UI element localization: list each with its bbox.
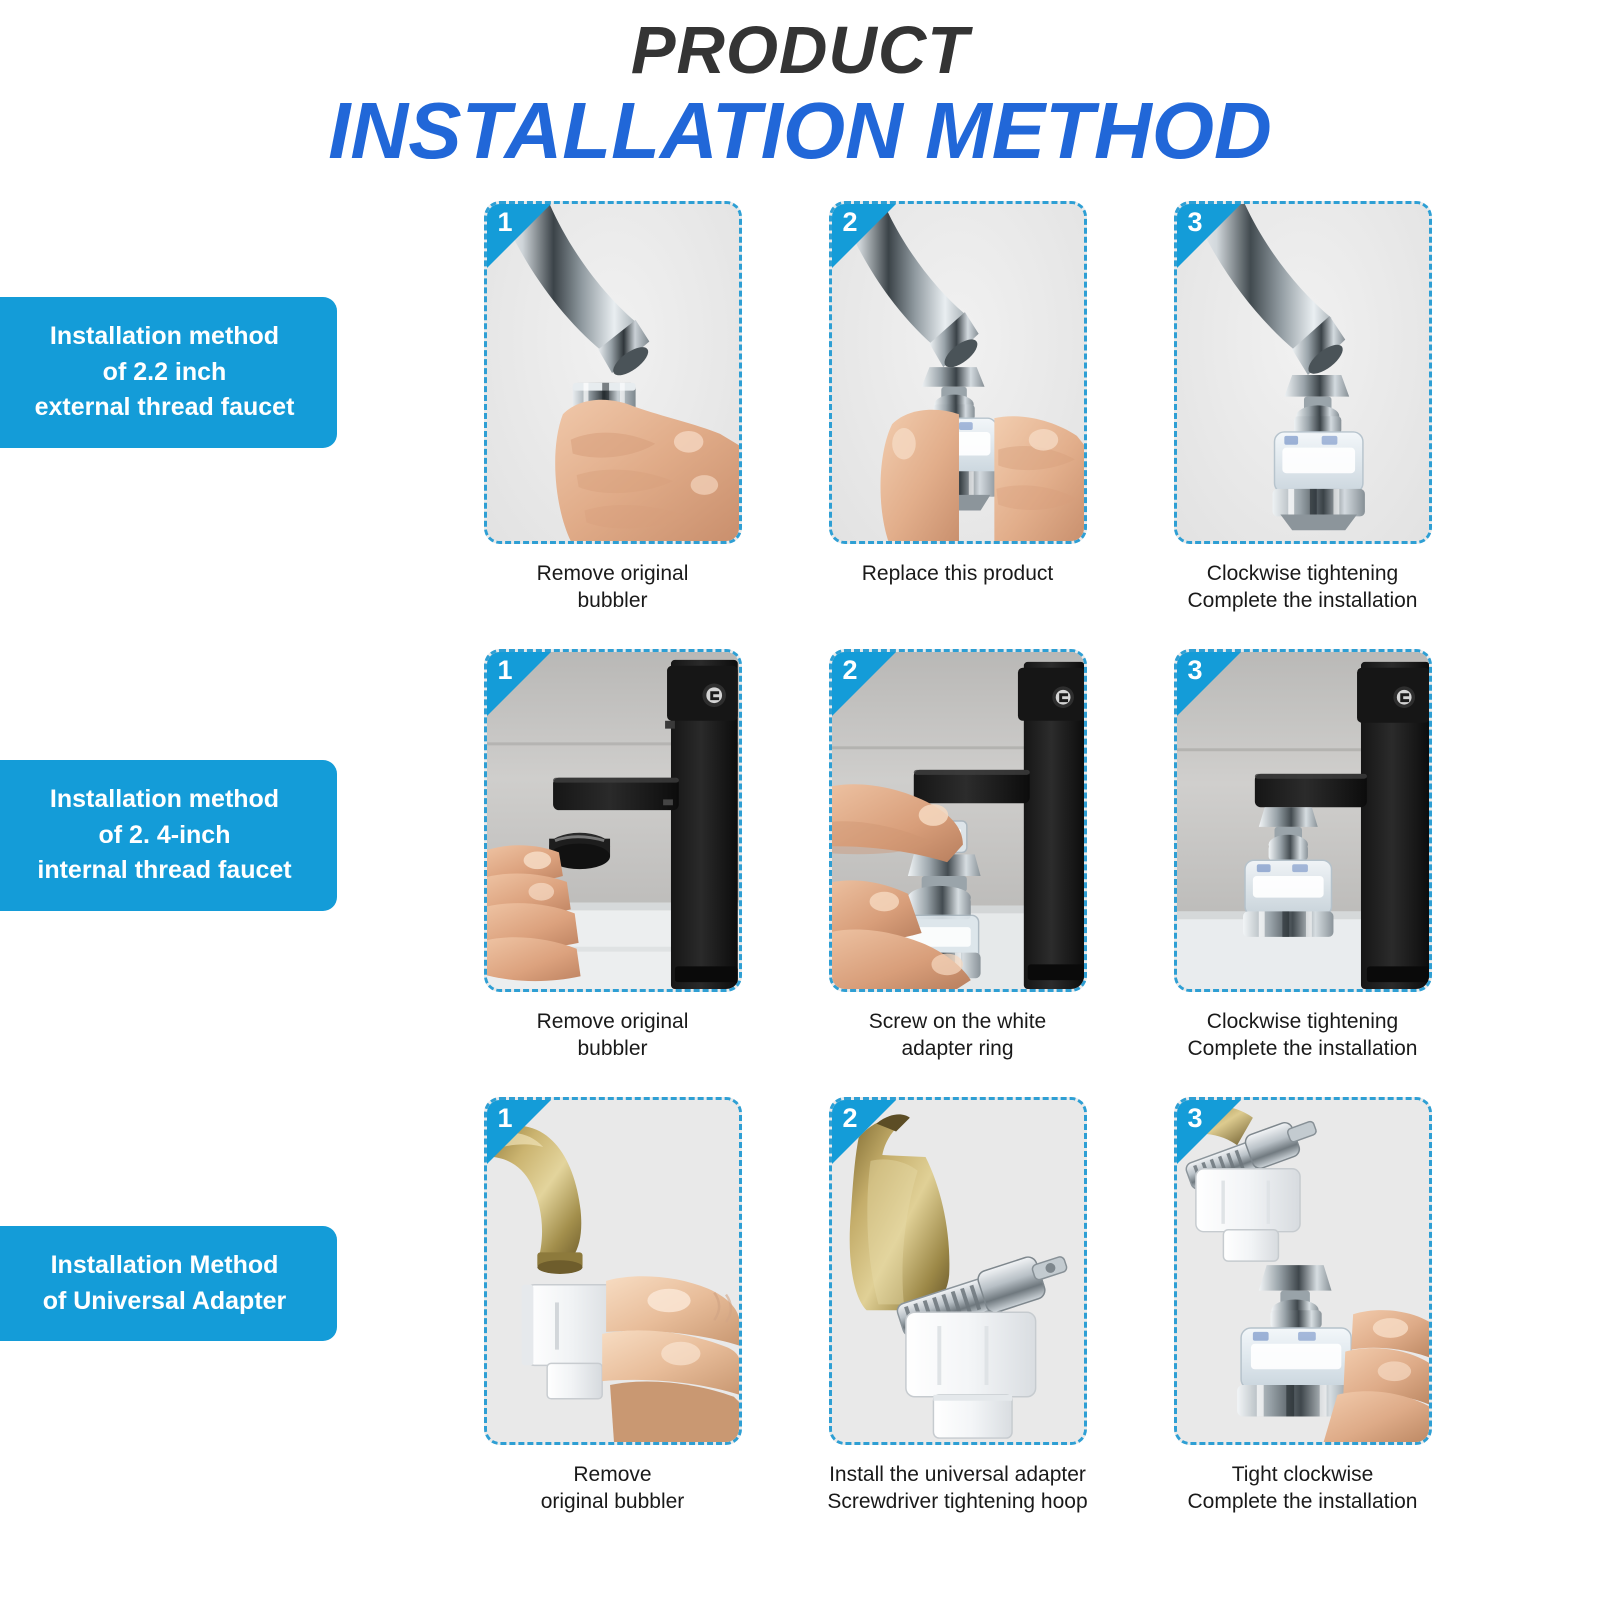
step-badge-corner: [1177, 652, 1241, 716]
section-label-line-3: internal thread faucet: [18, 853, 311, 889]
step-number: 3: [1188, 209, 1203, 236]
section-label-internal-thread: Installation method of 2. 4-inch interna…: [0, 760, 337, 911]
instruction-row-internal-thread: Installation method of 2. 4-inch interna…: [0, 649, 1600, 1097]
panel-group-internal-thread: 1 Remove original bubbler: [440, 649, 1600, 1063]
step-caption-line-2: original bubbler: [448, 1488, 778, 1516]
step-number: 2: [843, 209, 858, 236]
step-caption-line-2: adapter ring: [793, 1035, 1123, 1063]
label-column: Installation method of 2. 4-inch interna…: [0, 649, 440, 1097]
step-caption-line-1: Tight clockwise: [1138, 1461, 1468, 1489]
page-header: PRODUCT INSTALLATION METHOD: [0, 0, 1600, 175]
product-installation-infographic: PRODUCT INSTALLATION METHOD Installation…: [0, 0, 1600, 1600]
step-caption: Clockwise tightening Complete the instal…: [1138, 1008, 1468, 1063]
page-title-secondary: INSTALLATION METHOD: [0, 88, 1600, 174]
section-label-line-2: of 2.2 inch: [18, 355, 311, 391]
step-number: 1: [498, 1105, 513, 1132]
step-panel-wrapper: 3 Tight clockwise Complete the installat…: [1130, 1097, 1475, 1516]
step-badge-corner: [832, 1100, 896, 1164]
section-label-line-2: of 2. 4-inch: [18, 818, 311, 854]
step-caption: Remove original bubbler: [448, 1008, 778, 1063]
step-caption-line-1: Replace this product: [793, 560, 1123, 588]
step-badge-corner: [832, 204, 896, 268]
step-caption: Remove original bubbler: [448, 1461, 778, 1516]
step-photo-panel[interactable]: 1: [484, 649, 742, 992]
step-caption-line-1: Screw on the white: [793, 1008, 1123, 1036]
step-caption-line-1: Clockwise tightening: [1138, 560, 1468, 588]
step-caption-line-1: Install the universal adapter: [793, 1461, 1123, 1489]
panel-group-external-thread: 1 Remove original bubbler: [440, 201, 1600, 615]
section-label-line-1: Installation method: [18, 782, 311, 818]
step-panel-wrapper: 2 Screw on the white adapter ring: [785, 649, 1130, 1063]
step-caption-line-2: Complete the installation: [1138, 1035, 1468, 1063]
step-panel-wrapper: 1 Remove original bubbler: [440, 1097, 785, 1516]
step-caption-line-1: Remove original: [448, 560, 778, 588]
step-photo-panel[interactable]: 1: [484, 1097, 742, 1445]
step-caption-line-1: Clockwise tightening: [1138, 1008, 1468, 1036]
step-panel-wrapper: 1 Remove original bubbler: [440, 649, 785, 1063]
label-column: Installation Method of Universal Adapter: [0, 1097, 440, 1567]
step-badge-corner: [487, 204, 551, 268]
step-caption-line-2: bubbler: [448, 1035, 778, 1063]
step-caption-line-2: Screwdriver tightening hoop: [793, 1488, 1123, 1516]
step-caption: Replace this product: [793, 560, 1123, 588]
label-column: Installation method of 2.2 inch external…: [0, 201, 440, 649]
step-panel-wrapper: 3 Clockwise tightening Complete the inst…: [1130, 649, 1475, 1063]
step-badge-corner: [487, 1100, 551, 1164]
step-photo-panel[interactable]: 3: [1174, 201, 1432, 544]
step-caption: Remove original bubbler: [448, 560, 778, 615]
section-label-universal-adapter: Installation Method of Universal Adapter: [0, 1226, 337, 1341]
step-caption-line-2: Complete the installation: [1138, 1488, 1468, 1516]
step-panel-wrapper: 3 Clockwise tightening Complete the inst…: [1130, 201, 1475, 615]
section-label-line-3: external thread faucet: [18, 390, 311, 426]
instruction-row-universal-adapter: Installation Method of Universal Adapter: [0, 1097, 1600, 1567]
step-panel-wrapper: 2 Install the universal adapter Screwdri…: [785, 1097, 1130, 1516]
step-number: 1: [498, 209, 513, 236]
step-caption-line-2: bubbler: [448, 587, 778, 615]
panel-group-universal-adapter: 1 Remove original bubbler: [440, 1097, 1600, 1516]
instruction-rows: Installation method of 2.2 inch external…: [0, 201, 1600, 1567]
step-photo-panel[interactable]: 3: [1174, 649, 1432, 992]
step-badge-corner: [1177, 204, 1241, 268]
step-number: 2: [843, 1105, 858, 1132]
step-badge-corner: [832, 652, 896, 716]
section-label-line-1: Installation method: [18, 319, 311, 355]
step-caption-line-2: Complete the installation: [1138, 587, 1468, 615]
step-caption-line-1: Remove original: [448, 1008, 778, 1036]
step-photo-panel[interactable]: 2: [829, 201, 1087, 544]
step-number: 2: [843, 657, 858, 684]
step-badge-corner: [487, 652, 551, 716]
step-caption: Clockwise tightening Complete the instal…: [1138, 560, 1468, 615]
step-caption: Screw on the white adapter ring: [793, 1008, 1123, 1063]
step-caption: Install the universal adapter Screwdrive…: [793, 1461, 1123, 1516]
step-caption: Tight clockwise Complete the installatio…: [1138, 1461, 1468, 1516]
page-title-primary: PRODUCT: [0, 16, 1600, 86]
section-label-line-2: of Universal Adapter: [18, 1284, 311, 1320]
step-caption-line-1: Remove: [448, 1461, 778, 1489]
step-number: 3: [1188, 1105, 1203, 1132]
step-photo-panel[interactable]: 2: [829, 1097, 1087, 1445]
step-panel-wrapper: 2 Replace this product: [785, 201, 1130, 615]
step-photo-panel[interactable]: 3: [1174, 1097, 1432, 1445]
section-label-line-1: Installation Method: [18, 1248, 311, 1284]
instruction-row-external-thread: Installation method of 2.2 inch external…: [0, 201, 1600, 649]
step-number: 1: [498, 657, 513, 684]
step-photo-panel[interactable]: 2: [829, 649, 1087, 992]
step-badge-corner: [1177, 1100, 1241, 1164]
step-photo-panel[interactable]: 1: [484, 201, 742, 544]
section-label-external-thread: Installation method of 2.2 inch external…: [0, 297, 337, 448]
step-number: 3: [1188, 657, 1203, 684]
step-panel-wrapper: 1 Remove original bubbler: [440, 201, 785, 615]
